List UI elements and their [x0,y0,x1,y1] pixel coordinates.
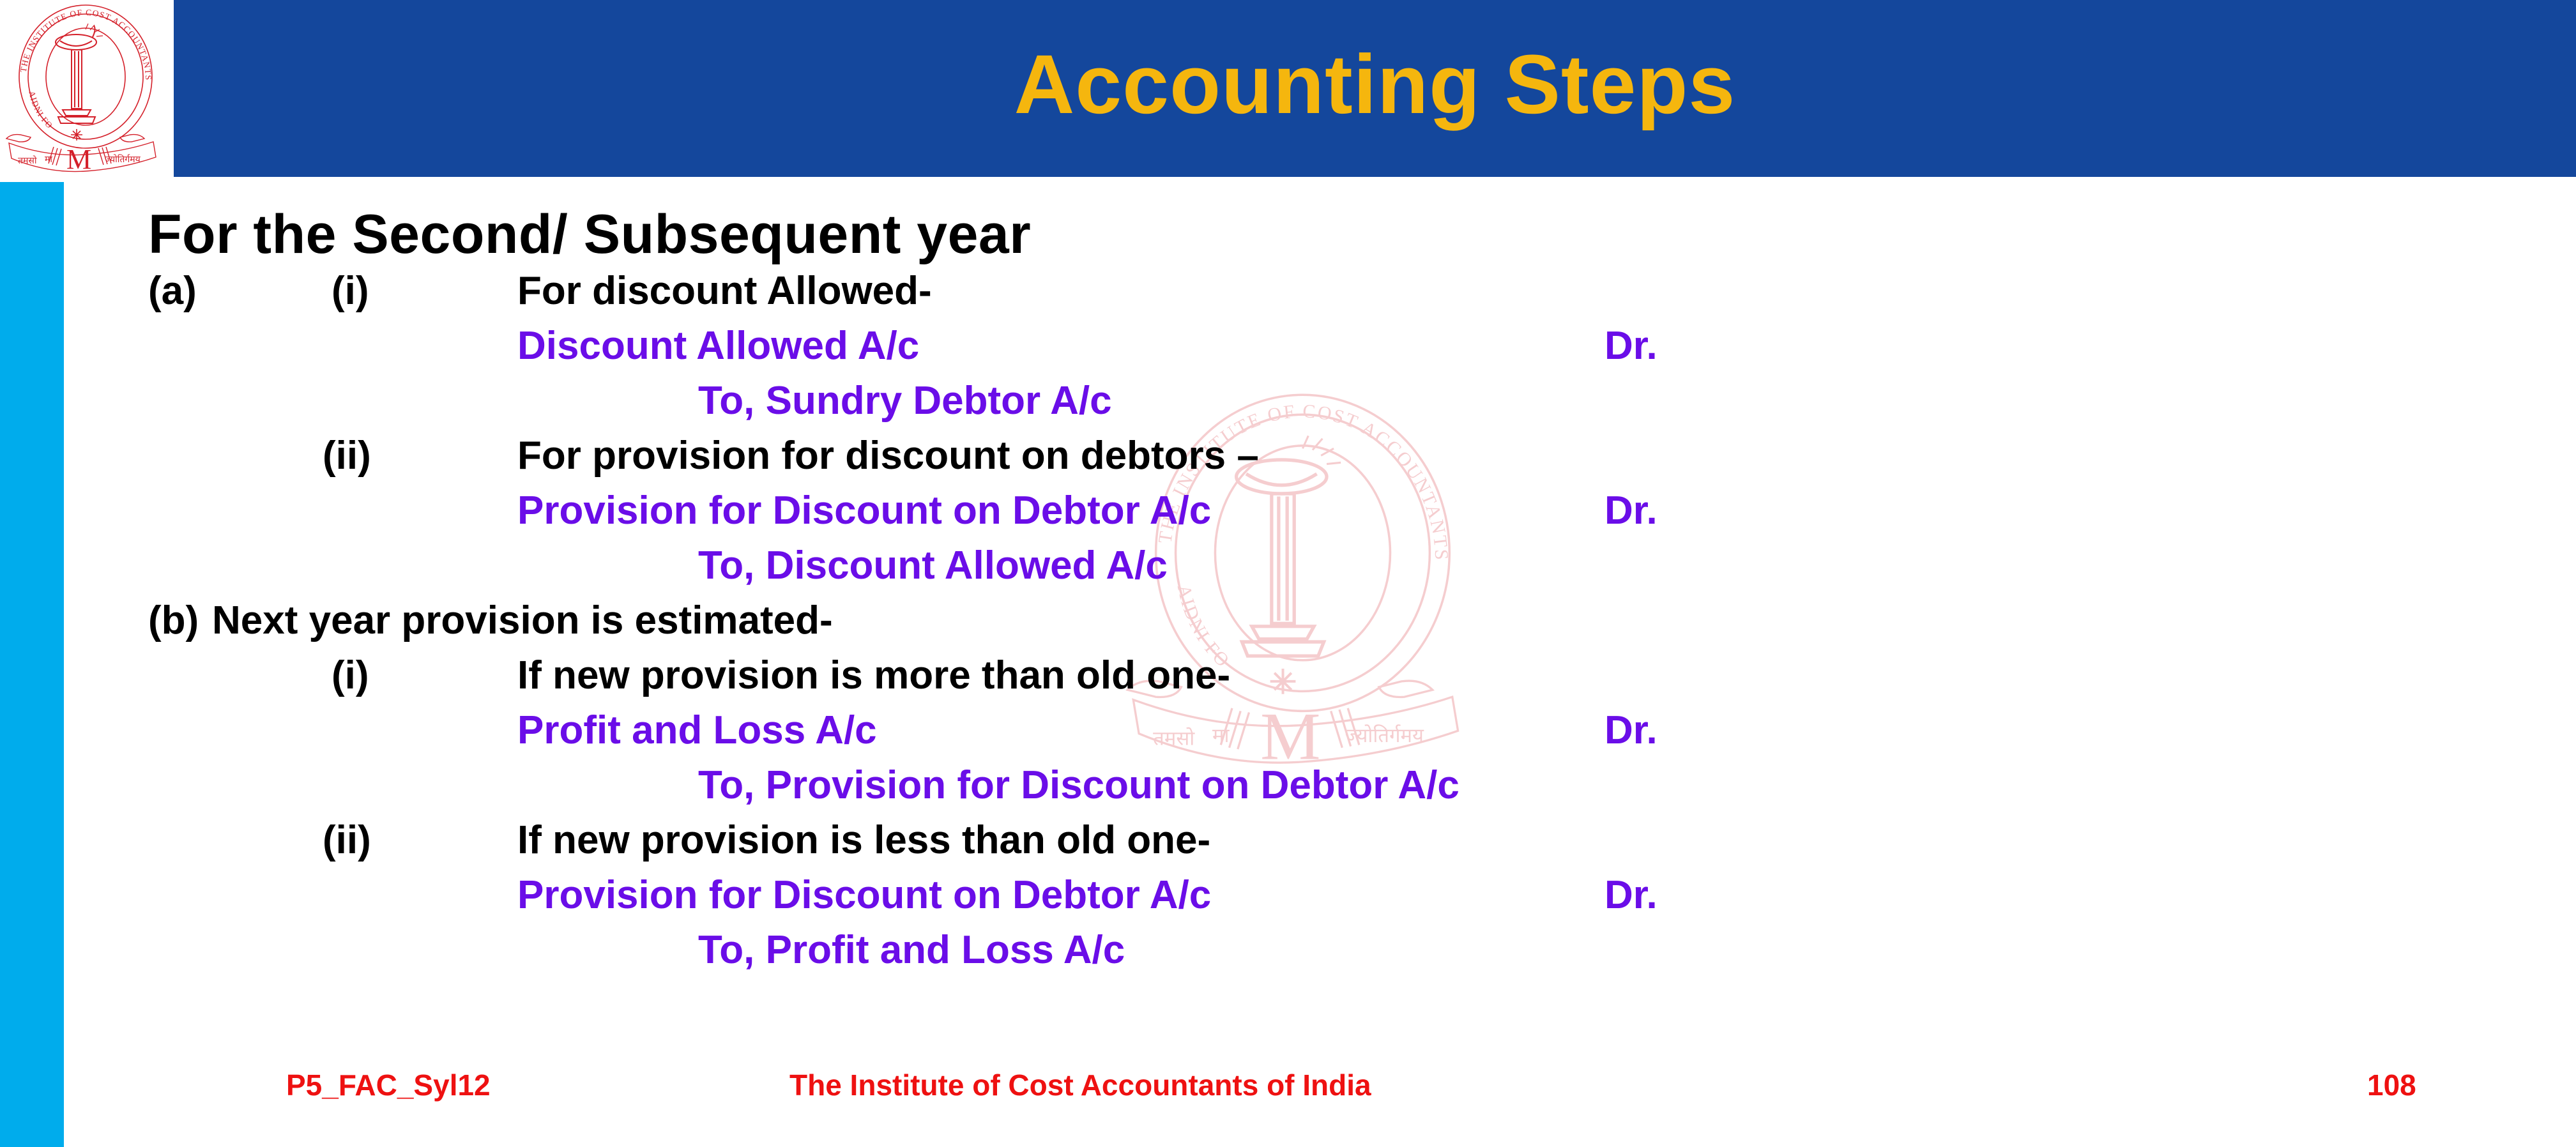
journal-entry-line: Provision for Discount on Debtor A/cDr. [0,488,2576,544]
entry-account-text: To, Discount Allowed A/c [698,543,1168,588]
entry-description-text: Next year provision is estimated- [212,598,833,643]
entry-account-text: To, Profit and Loss A/c [698,927,1125,973]
entry-label: (b) [148,598,199,643]
entry-roman-numeral: (ii) [323,433,371,478]
journal-entry-line: (a)(i)For discount Allowed- [0,268,2576,324]
entry-roman-numeral: (ii) [323,817,371,863]
page-title: Accounting Steps [174,0,2576,177]
entry-label: (a) [148,268,197,314]
svg-text:मा: मा [45,155,52,165]
footer-page-number: 108 [2367,1068,2416,1102]
journal-entry-line: (ii)For provision for discount on debtor… [0,433,2576,489]
slide-canvas: Accounting Steps THE INSTITUTE OF COST A… [0,0,2576,1147]
svg-text:ज्योतिर्गमय: ज्योतिर्गमय [105,154,141,165]
journal-entry-line: (b)Next year provision is estimated- [0,598,2576,654]
entry-account-text: To, Sundry Debtor A/c [698,378,1112,423]
journal-entry-line: (i)If new provision is more than old one… [0,653,2576,709]
entry-account-text: Provision for Discount on Debtor A/c [517,872,1211,918]
section-heading: For the Second/ Subsequent year [148,203,1031,266]
footer-institute-name: The Institute of Cost Accountants of Ind… [789,1068,1371,1102]
journal-entry-line: Profit and Loss A/cDr. [0,708,2576,764]
entry-debit-marker: Dr. [1604,323,1658,368]
entry-roman-numeral: (i) [332,268,369,314]
entry-debit-marker: Dr. [1604,488,1658,533]
entry-description-text: For discount Allowed- [517,268,932,314]
slide-body: For the Second/ Subsequent year (a)(i)Fo… [0,185,2576,1035]
slide-header-bar: Accounting Steps [174,0,2576,177]
journal-entry-line: To, Sundry Debtor A/c [0,378,2576,434]
journal-entry-line: (ii)If new provision is less than old on… [0,817,2576,874]
entry-description-text: If new provision is less than old one- [517,817,1210,863]
journal-entry-line: To, Provision for Discount on Debtor A/c [0,763,2576,819]
entry-account-text: Provision for Discount on Debtor A/c [517,488,1211,533]
svg-text:M: M [66,144,91,175]
journal-entry-line: To, Discount Allowed A/c [0,543,2576,599]
svg-text:तमसो: तमसो [18,155,37,166]
institute-logo-icon: THE INSTITUTE OF COST ACCOUNTANTS AIDNI … [3,1,172,178]
journal-entry-line: To, Profit and Loss A/c [0,927,2576,984]
journal-entry-line: Provision for Discount on Debtor A/cDr. [0,872,2576,929]
entry-account-text: To, Provision for Discount on Debtor A/c [698,763,1459,808]
entry-account-text: Discount Allowed A/c [517,323,919,368]
entry-description-text: For provision for discount on debtors – [517,433,1259,478]
svg-text:AIDNI FO: AIDNI FO [27,90,54,130]
entry-description-text: If new provision is more than old one- [517,653,1230,698]
entry-roman-numeral: (i) [332,653,369,698]
entry-account-text: Profit and Loss A/c [517,708,877,753]
entry-debit-marker: Dr. [1604,872,1658,918]
institute-logo: THE INSTITUTE OF COST ACCOUNTANTS AIDNI … [3,1,172,178]
slide-footer: P5_FAC_Syl12 The Institute of Cost Accou… [0,1068,2576,1125]
entry-debit-marker: Dr. [1604,708,1658,753]
journal-entry-line: Discount Allowed A/cDr. [0,323,2576,379]
footer-subject-code: P5_FAC_Syl12 [286,1068,491,1102]
